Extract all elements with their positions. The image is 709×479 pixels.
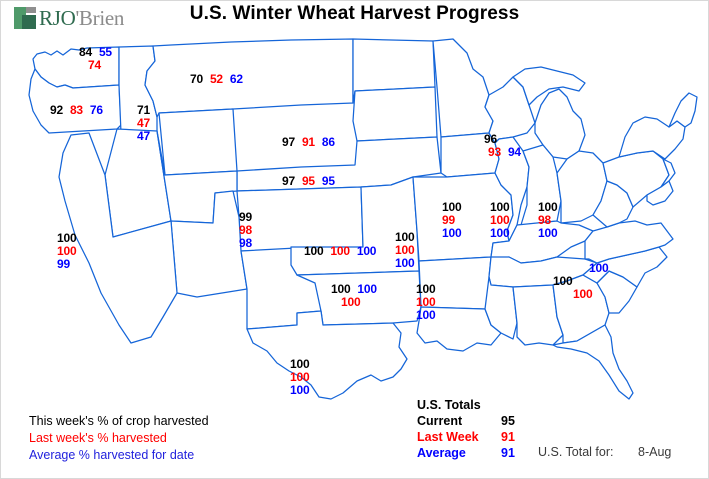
value-current-north-carolina: 100 [553, 274, 572, 288]
value-current-oregon: 92 [50, 103, 63, 117]
state-values-texas: 100100100 [290, 358, 309, 397]
values-row: 979186 [282, 136, 335, 149]
value-current-illinois: 100 [442, 200, 461, 214]
value-last-week-michigan: 93 [488, 145, 501, 159]
state-values-california: 10010099 [57, 232, 76, 271]
legend-average-label: Average % harvested for date [29, 447, 209, 464]
value-last-week-idaho: 47 [137, 116, 150, 130]
values-row: 100 [395, 257, 414, 270]
value-average-texas: 100 [290, 383, 309, 397]
us-map-outline-svg [1, 25, 709, 415]
value-last-week-montana: 52 [210, 72, 223, 86]
values-row: 47 [137, 130, 150, 143]
state-values-nebraska: 979595 [282, 175, 335, 188]
value-current-oklahoma: 100 [331, 282, 350, 296]
legend-current-label: This week's % of crop harvested [29, 413, 209, 430]
state-values-oklahoma: 100100100 [331, 283, 377, 309]
totals-average-value: 91 [501, 445, 541, 461]
value-current-colorado: 99 [239, 210, 252, 224]
value-last-week-washington: 74 [88, 58, 101, 72]
us-totals-panel: U.S. Totals Current 95 Last Week 91 Aver… [417, 397, 541, 461]
value-average-montana: 62 [230, 72, 243, 86]
value-current-michigan: 96 [484, 132, 497, 146]
totals-last-week-value: 91 [501, 429, 541, 445]
state-values-montana: 705262 [190, 73, 243, 86]
value-average-nebraska: 95 [322, 174, 335, 188]
state-values-colorado: 999898 [239, 211, 252, 250]
value-current-south-dakota: 97 [282, 135, 295, 149]
us-total-for-date: 8-Aug [638, 445, 671, 459]
totals-heading-row: U.S. Totals [417, 397, 541, 413]
values-row: 9394 [484, 146, 521, 159]
value-average-michigan: 94 [508, 145, 521, 159]
value-last-week-oregon: 83 [70, 103, 83, 117]
value-average-washington: 55 [99, 45, 112, 59]
value-average-kansas: 100 [357, 244, 376, 258]
state-outlines [29, 39, 697, 399]
value-current-california: 100 [57, 231, 76, 245]
values-row: 98 [239, 237, 252, 250]
value-last-week-illinois: 99 [442, 213, 455, 227]
value-current-kansas: 100 [304, 244, 323, 258]
value-last-week-texas: 100 [290, 370, 309, 384]
value-current-tennessee: 100 [416, 282, 435, 296]
value-average-california: 99 [57, 257, 70, 271]
value-average-tennessee: 100 [416, 308, 435, 322]
values-row: 100 [490, 227, 509, 240]
totals-last-week-label: Last Week [417, 429, 501, 445]
us-totals-heading-spacer [501, 397, 541, 413]
value-average-idaho: 47 [137, 129, 150, 143]
state-values-idaho: 714747 [137, 104, 150, 143]
value-last-week-tennessee: 100 [416, 295, 435, 309]
value-last-week-missouri: 100 [395, 243, 414, 257]
value-last-week-south-dakota: 91 [302, 135, 315, 149]
totals-current-value: 95 [501, 413, 541, 429]
value-last-week-oklahoma: 100 [341, 295, 360, 309]
us-total-for-label: U.S. Total for: [538, 445, 614, 459]
values-row: 100100100 [304, 245, 376, 258]
totals-row-last-week: Last Week 91 [417, 429, 541, 445]
value-average-ohio: 100 [538, 226, 557, 240]
state-values-tennessee: 100100100 [416, 283, 435, 322]
values-row: 74 [79, 59, 112, 72]
totals-row-current: Current 95 [417, 413, 541, 429]
values-row: 99 [57, 258, 76, 271]
value-last-week-colorado: 98 [239, 223, 252, 237]
value-average-oklahoma: 100 [357, 282, 376, 296]
value-current-indiana: 100 [490, 200, 509, 214]
value-average-oregon: 76 [90, 103, 103, 117]
page-title: U.S. Winter Wheat Harvest Progress [1, 3, 708, 25]
values-row: 979595 [282, 175, 335, 188]
value-last-week-kansas: 100 [330, 244, 349, 258]
legend-last-week-label: Last week's % harvested [29, 430, 209, 447]
legend: This week's % of crop harvested Last wee… [29, 413, 209, 464]
values-row: 100 [416, 309, 435, 322]
values-row: 100 [551, 288, 608, 301]
state-values-washington: 845574 [79, 46, 112, 72]
value-average-colorado: 98 [239, 236, 252, 250]
totals-row-average: Average 91 [417, 445, 541, 461]
state-values-illinois: 10099100 [442, 201, 461, 240]
state-values-oregon: 928376 [50, 104, 103, 117]
value-current-texas: 100 [290, 357, 309, 371]
values-row: 100 [442, 227, 461, 240]
state-values-ohio: 10098100 [538, 201, 557, 240]
values-row: 928376 [50, 104, 103, 117]
value-current-nebraska: 97 [282, 174, 295, 188]
state-values-north-carolina: 100100100 [551, 262, 608, 301]
value-current-washington: 84 [79, 45, 92, 59]
value-current-missouri: 100 [395, 230, 414, 244]
state-values-indiana: 100100100 [490, 201, 509, 240]
value-average-illinois: 100 [442, 226, 461, 240]
value-last-week-ohio: 98 [538, 213, 551, 227]
values-row: 100 [290, 384, 309, 397]
state-values-michigan: 969394 [484, 133, 521, 159]
values-row: 100 [538, 227, 557, 240]
value-last-week-nebraska: 95 [302, 174, 315, 188]
state-values-missouri: 100100100 [395, 231, 414, 270]
totals-average-label: Average [417, 445, 501, 461]
state-values-south-dakota: 979186 [282, 136, 335, 149]
value-last-week-north-carolina: 100 [573, 287, 592, 301]
value-current-idaho: 71 [137, 103, 150, 117]
us-totals-heading: U.S. Totals [417, 397, 501, 413]
value-average-missouri: 100 [395, 256, 414, 270]
value-average-indiana: 100 [490, 226, 509, 240]
value-last-week-california: 100 [57, 244, 76, 258]
value-last-week-indiana: 100 [490, 213, 509, 227]
us-map: 8455747052629283767147479791869693949795… [1, 25, 709, 415]
winter-wheat-harvest-map-page: RJO'Brien U.S. Winter Wheat Harvest Prog… [0, 0, 709, 479]
value-average-south-dakota: 86 [322, 135, 335, 149]
state-values-kansas: 100100100 [304, 245, 376, 258]
values-row: 705262 [190, 73, 243, 86]
totals-current-label: Current [417, 413, 501, 429]
value-average-north-carolina: 100 [589, 261, 608, 275]
values-row: 100 [331, 296, 377, 309]
us-totals-table: U.S. Totals Current 95 Last Week 91 Aver… [417, 397, 541, 461]
value-current-ohio: 100 [538, 200, 557, 214]
value-current-montana: 70 [190, 72, 203, 86]
